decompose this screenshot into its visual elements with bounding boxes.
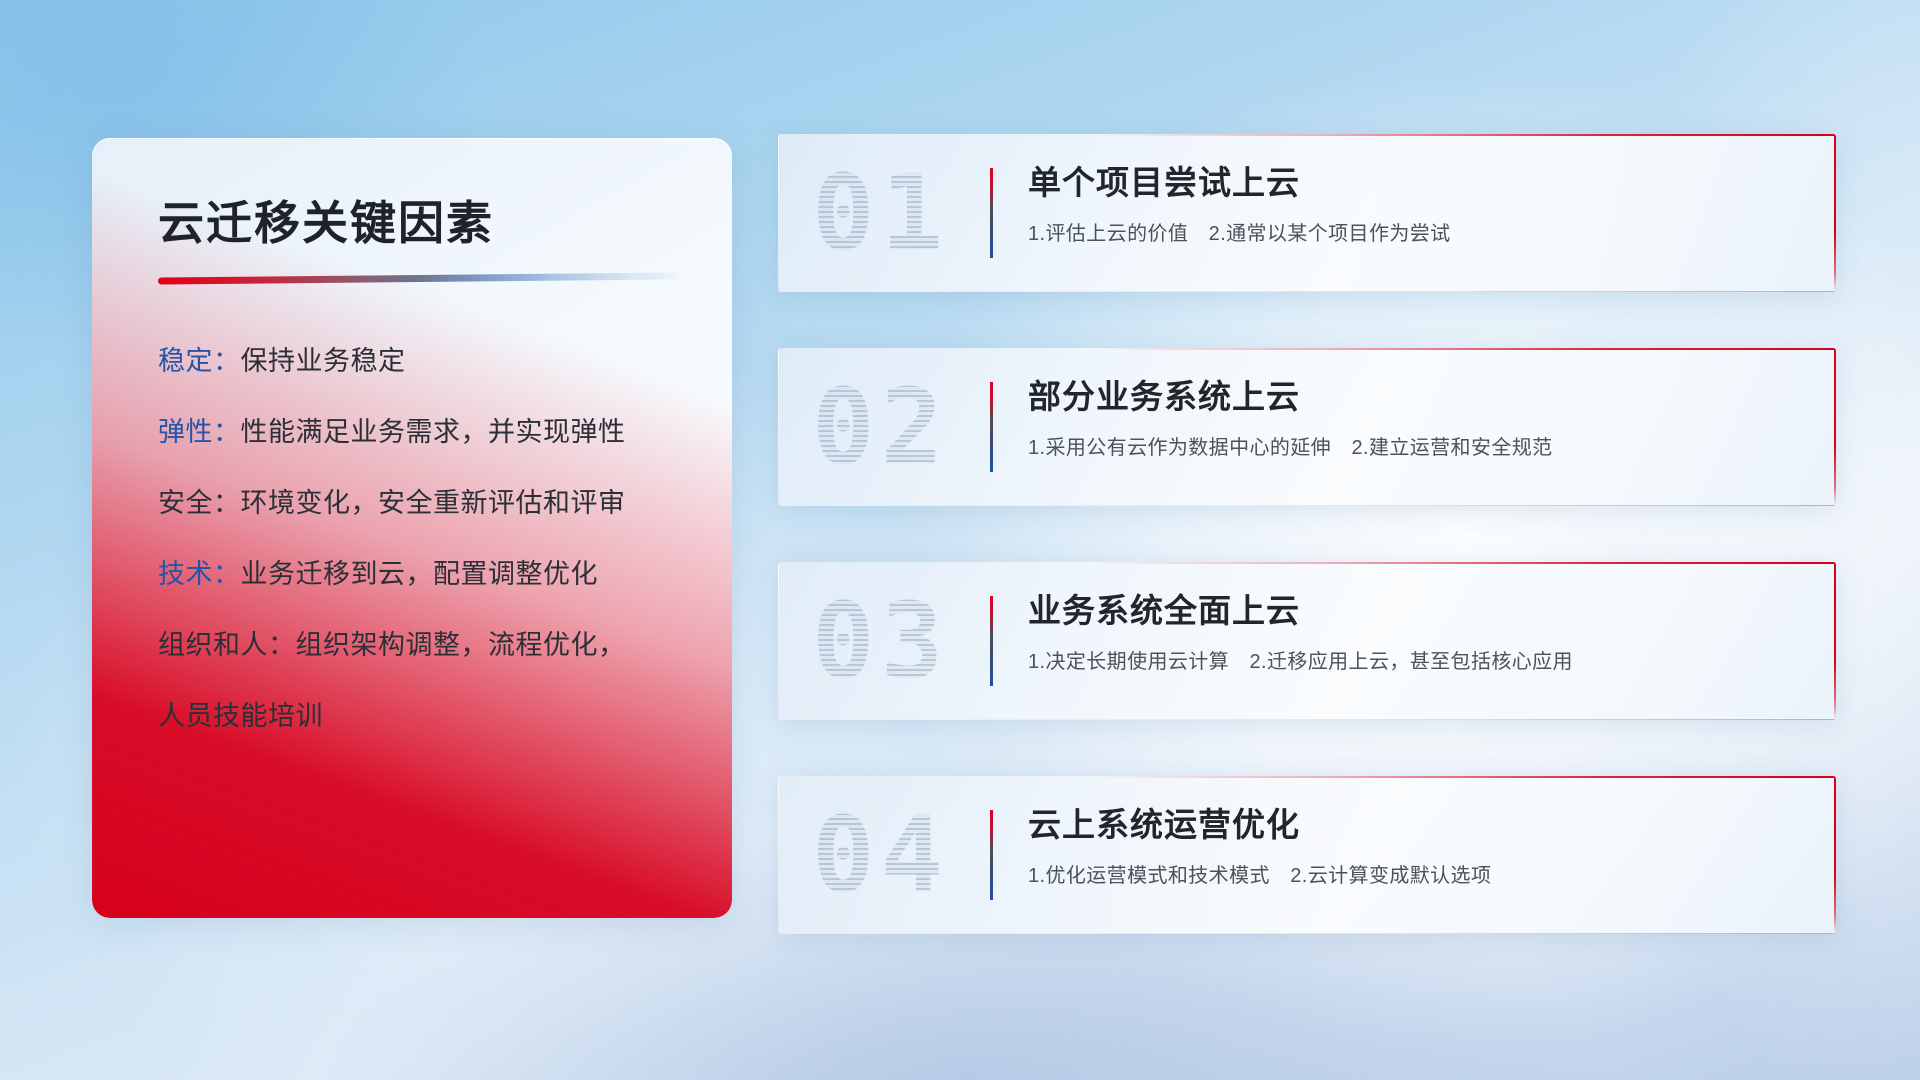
list-item: 技术：业务迁移到云，配置调整优化 bbox=[158, 561, 678, 588]
card-left-edge bbox=[778, 776, 779, 934]
factor-list: 稳定：保持业务稳定 弹性：性能满足业务需求，并实现弹性 安全：环境变化，安全重新… bbox=[148, 348, 678, 730]
card-right-accent bbox=[1834, 776, 1836, 934]
stage-description: 1.评估上云的价值 2.通常以某个项目作为尝试 bbox=[1028, 220, 1796, 248]
stage-card-03[interactable]: 03 03 业务系统全面上云 1.决定长期使用云计算 2.迁移应用上云，甚至包括… bbox=[778, 562, 1836, 720]
stage-title: 单个项目尝试上云 bbox=[1028, 162, 1796, 203]
factor-text: 保持业务稳定 bbox=[241, 346, 406, 376]
page-title: 云迁移关键因素 bbox=[148, 198, 678, 249]
factor-label: 技术： bbox=[158, 559, 241, 589]
card-right-accent bbox=[1834, 562, 1836, 720]
card-bottom-edge bbox=[778, 291, 1836, 292]
stage-number: 04 bbox=[812, 803, 949, 907]
stage-number: 03 bbox=[812, 589, 949, 693]
card-bottom-edge bbox=[778, 933, 1836, 934]
stage-number: 02 bbox=[812, 375, 949, 479]
factor-label: 组织和人： bbox=[158, 630, 296, 660]
stage-divider-bar bbox=[990, 168, 993, 258]
factor-text: 人员技能培训 bbox=[158, 701, 323, 731]
card-right-accent bbox=[1834, 348, 1836, 506]
stage-divider-bar bbox=[990, 382, 993, 472]
factor-label: 稳定： bbox=[158, 346, 241, 376]
factor-label: 安全： bbox=[158, 488, 241, 518]
card-top-accent bbox=[778, 776, 1836, 778]
stage-divider-bar bbox=[990, 810, 993, 900]
stage-description: 1.采用公有云作为数据中心的延伸 2.建立运营和安全规范 bbox=[1028, 434, 1796, 462]
list-item: 组织和人：组织架构调整，流程优化， bbox=[158, 632, 678, 659]
list-item: 安全：环境变化，安全重新评估和评审 bbox=[158, 490, 678, 517]
card-right-accent bbox=[1834, 134, 1836, 292]
card-left-edge bbox=[778, 562, 779, 720]
factor-text: 业务迁移到云，配置调整优化 bbox=[241, 559, 599, 589]
factor-text: 环境变化，安全重新评估和评审 bbox=[241, 488, 626, 518]
stage-description: 1.优化运营模式和技术模式 2.云计算变成默认选项 bbox=[1028, 862, 1796, 890]
card-left-edge bbox=[778, 134, 779, 292]
stage-divider-bar bbox=[990, 596, 993, 686]
migration-stages-list: 01 01 单个项目尝试上云 1.评估上云的价值 2.通常以某个项目作为尝试 0… bbox=[778, 134, 1836, 934]
stage-card-02[interactable]: 02 02 部分业务系统上云 1.采用公有云作为数据中心的延伸 2.建立运营和安… bbox=[778, 348, 1836, 506]
stage-card-04[interactable]: 04 04 云上系统运营优化 1.优化运营模式和技术模式 2.云计算变成默认选项 bbox=[778, 776, 1836, 934]
factor-text: 性能满足业务需求，并实现弹性 bbox=[241, 417, 626, 447]
stage-title: 云上系统运营优化 bbox=[1028, 804, 1796, 845]
card-left-edge bbox=[778, 348, 779, 506]
title-underline-gradient bbox=[158, 272, 678, 284]
stage-number: 01 bbox=[812, 161, 949, 265]
stage-title: 部分业务系统上云 bbox=[1028, 376, 1796, 417]
stage-description: 1.决定长期使用云计算 2.迁移应用上云，甚至包括核心应用 bbox=[1028, 648, 1796, 676]
card-top-accent bbox=[778, 562, 1836, 564]
stage-card-01[interactable]: 01 01 单个项目尝试上云 1.评估上云的价值 2.通常以某个项目作为尝试 bbox=[778, 134, 1836, 292]
stage-text-block: 单个项目尝试上云 1.评估上云的价值 2.通常以某个项目作为尝试 bbox=[1028, 162, 1796, 248]
panel-content: 云迁移关键因素 稳定：保持业务稳定 弹性：性能满足业务需求，并实现弹性 安全：环… bbox=[92, 138, 732, 730]
list-item: 弹性：性能满足业务需求，并实现弹性 bbox=[158, 419, 678, 446]
list-item: 稳定：保持业务稳定 bbox=[158, 348, 678, 375]
card-top-accent bbox=[778, 134, 1836, 136]
stage-text-block: 业务系统全面上云 1.决定长期使用云计算 2.迁移应用上云，甚至包括核心应用 bbox=[1028, 590, 1796, 676]
list-item-continuation: 人员技能培训 bbox=[158, 703, 678, 730]
key-factors-panel: 云迁移关键因素 稳定：保持业务稳定 弹性：性能满足业务需求，并实现弹性 安全：环… bbox=[92, 138, 732, 918]
factor-text: 组织架构调整，流程优化， bbox=[296, 630, 626, 660]
factor-label: 弹性： bbox=[158, 417, 241, 447]
stage-title: 业务系统全面上云 bbox=[1028, 590, 1796, 631]
card-top-accent bbox=[778, 348, 1836, 350]
card-bottom-edge bbox=[778, 505, 1836, 506]
card-bottom-edge bbox=[778, 719, 1836, 720]
stage-text-block: 部分业务系统上云 1.采用公有云作为数据中心的延伸 2.建立运营和安全规范 bbox=[1028, 376, 1796, 462]
stage-text-block: 云上系统运营优化 1.优化运营模式和技术模式 2.云计算变成默认选项 bbox=[1028, 804, 1796, 890]
